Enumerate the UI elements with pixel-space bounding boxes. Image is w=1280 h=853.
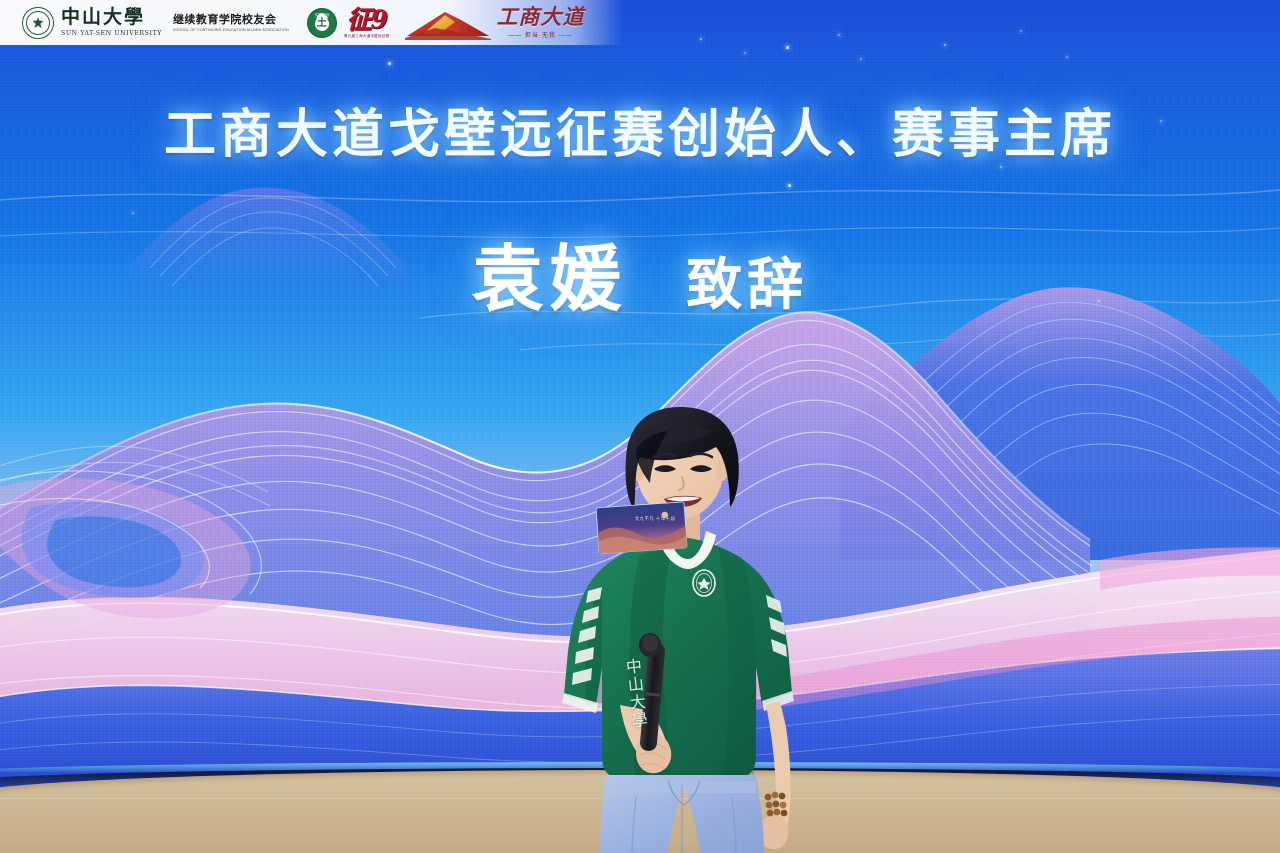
sysu-unit-cn: 继续教育学院校友会: [173, 14, 289, 25]
sysu-name-cn: 中山大學: [61, 8, 162, 27]
zheng9-title: 征9: [346, 7, 386, 32]
sysu-unit-en: SCHOOL OF CONTINUING EDUCATION ALUMNI AS…: [173, 28, 289, 32]
zheng9-subtitle: 第九届工商大道戈壁远征赛: [344, 34, 390, 39]
gobi-badge-icon: 土 戈壁挑战: [307, 8, 337, 38]
gobi-badge-arc: 戈壁挑战: [315, 12, 330, 17]
sponsor-gongshang-dadao: 工商大道 —— 担当·无我 ——: [405, 6, 584, 40]
bracelet-beads: [765, 792, 788, 817]
gobi-badge-char: 土: [317, 19, 327, 29]
gongshang-dadao-title: 工商大道: [496, 6, 584, 27]
screen-speaker-line: 袁媛 致辞: [0, 220, 1280, 325]
screen-speaker-name: 袁媛: [472, 237, 628, 321]
stage-photo: 工商大道戈壁远征赛创始人、赛事主席 袁媛 致辞: [0, 0, 1280, 853]
mountain-mark-icon: [405, 6, 491, 40]
screen-title: 工商大道戈壁远征赛创始人、赛事主席: [0, 92, 1280, 167]
speaker-figure: [540, 405, 830, 853]
sysu-name-en: SUN YAT-SEN UNIVERSITY: [61, 30, 162, 37]
gongshang-dadao-tagline: —— 担当·无我 ——: [508, 30, 572, 39]
sponsor-sysu: 中山大學 SUN YAT-SEN UNIVERSITY 继续教育学院校友会 SC…: [22, 7, 289, 39]
sponsor-banner: 中山大學 SUN YAT-SEN UNIVERSITY 继续教育学院校友会 SC…: [0, 0, 622, 45]
sponsor-zheng9: 土 戈壁挑战 征9 第九届工商大道戈壁远征赛: [307, 7, 390, 39]
university-seal-icon: [22, 7, 54, 39]
screen-speaker-action: 致辞: [686, 253, 808, 318]
